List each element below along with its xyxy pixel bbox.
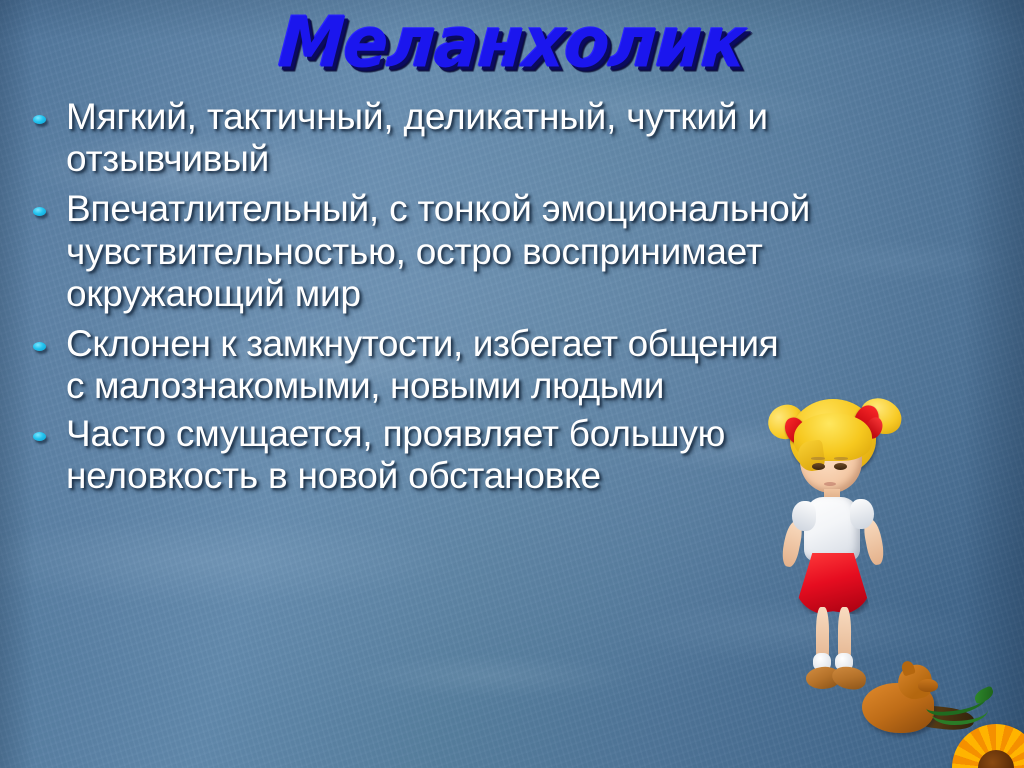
list-item: Склонен к замкнутости, избегает общения … [22, 323, 902, 407]
bullet-list: Мягкий, тактичный, деликатный, чуткий и … [22, 96, 902, 504]
sleeve-left [792, 501, 816, 531]
bullet-dot-icon [33, 432, 46, 441]
page-title: Меланхолик [276, 6, 747, 79]
bullet-text-1: Мягкий, тактичный, деликатный, чуткий и … [66, 96, 902, 180]
slide: Меланхолик Мягкий, тактичный, деликатный… [0, 0, 1024, 768]
list-item: Мягкий, тактичный, деликатный, чуткий и … [22, 96, 902, 180]
bullet-dot-icon [33, 115, 46, 124]
bullet-text-4: Часто смущается, проявляет большую нелов… [66, 413, 902, 497]
bullet-dot-icon [33, 207, 46, 216]
bullet-text-3: Склонен к замкнутости, избегает общения … [66, 323, 902, 407]
list-item: Впечатлительный, с тонкой эмоциональной … [22, 188, 902, 315]
list-item: Часто смущается, проявляет большую нелов… [22, 413, 902, 497]
shoe-right [831, 665, 867, 691]
title-container: Меланхолик [0, 8, 1024, 77]
red-skirt [796, 553, 870, 615]
sunflower-illustration [952, 724, 1024, 768]
bullet-dot-icon [33, 342, 46, 351]
bullet-text-2: Впечатлительный, с тонкой эмоциональной … [66, 188, 902, 315]
